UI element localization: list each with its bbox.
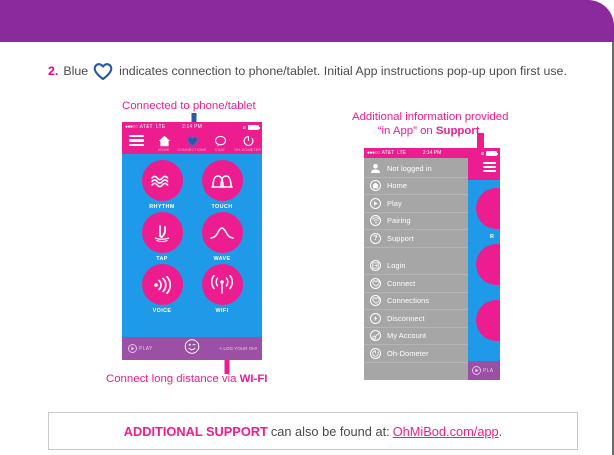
nav-item-chat[interactable]: CHAT (206, 134, 234, 152)
drawer-item-not-logged-in[interactable]: Not logged in (364, 160, 468, 178)
play-icon (370, 198, 381, 209)
mode-label-touch: TOUCH (211, 204, 232, 210)
key-icon (370, 330, 381, 341)
home-icon[interactable] (158, 134, 171, 147)
drawer-label-login: Login (387, 261, 406, 270)
nav-item-home[interactable]: HOME (150, 134, 178, 152)
mode-cell-tap[interactable]: TAP (132, 212, 192, 262)
drawer-item-login[interactable]: Login (364, 258, 468, 276)
drawer-item-my-account[interactable]: My Account (364, 328, 468, 346)
mode-label-wifi: WIFI (216, 308, 229, 314)
drawer-label-play: Play (387, 199, 402, 208)
wink-smiley-icon[interactable] (185, 339, 200, 359)
nav-item-connections[interactable]: CONNECTIONS (178, 134, 206, 152)
status-time: 2:14 PM (364, 150, 500, 156)
annotation-wifi-text: Connect long distance via (106, 373, 240, 385)
intro-before-heart: Blue (63, 64, 88, 78)
drawer-label-support: Support (387, 234, 414, 243)
mode-label-rhythm: RHYTHM (149, 204, 174, 210)
voice-waves-icon[interactable] (142, 264, 183, 305)
play-label-peek: PLA (483, 368, 493, 374)
right-phone-app-peek: R PLA (468, 158, 500, 380)
nav-label-home: HOME (158, 148, 170, 152)
drawer-label-connect: Connect (387, 279, 415, 288)
play-button[interactable]: PLAY (128, 340, 153, 358)
status-time: 2:14 PM (122, 124, 262, 130)
play-label: PLAY (139, 346, 153, 352)
right-phone-content: Not logged in Home Play Pairing (364, 158, 500, 380)
drawer-label-my-account: My Account (387, 331, 426, 340)
drawer-item-support[interactable]: ? Support (364, 230, 468, 248)
play-icon[interactable] (128, 340, 137, 358)
drawer-item-connect[interactable]: Connect (364, 275, 468, 293)
play-icon[interactable] (472, 362, 481, 380)
additional-support-bold: ADDITIONAL SUPPORT (124, 424, 268, 439)
oh-dometer-icon (370, 348, 381, 359)
annotation-connected: Connected to phone/tablet (122, 99, 256, 113)
annotation-support-line1: Additional information provided (352, 110, 508, 124)
oh-dometer-icon[interactable] (242, 134, 255, 147)
drawer-label-home: Home (387, 181, 407, 190)
drawer-item-home[interactable]: Home (364, 178, 468, 196)
mode-grid: RHYTHM TOUCH (122, 154, 262, 314)
drawer-label-pairing: Pairing (387, 216, 411, 225)
phone-mockup-left: ●●●○○ AT&T LTE 2:14 PM Ƀ HOME CONNECTION… (122, 122, 262, 360)
app-navbar-peek (468, 158, 500, 180)
touch-loops-icon[interactable] (202, 160, 243, 201)
mode-cell-wave[interactable]: WAVE (192, 212, 252, 262)
log-your-oh-label[interactable]: < LOG YOUR OH! (219, 346, 257, 351)
rhythm-wave-icon[interactable] (142, 160, 183, 201)
home-icon (370, 180, 381, 191)
mode-label-wave: WAVE (213, 256, 230, 262)
drawer-separator (364, 248, 468, 258)
wifi-icon (370, 215, 381, 226)
bolt-icon (370, 313, 381, 324)
nav-item-menu[interactable] (122, 134, 150, 148)
heart-icon (370, 278, 381, 289)
heart-icon (92, 61, 114, 81)
hamburger-menu-icon[interactable] (483, 162, 496, 180)
intro-after-heart: indicates connection to phone/tablet. In… (119, 64, 567, 78)
app-bottom-bar-peek: PLA (468, 361, 500, 380)
mode-circle-peek-3[interactable] (476, 300, 500, 341)
heart-icon (370, 295, 381, 306)
ohmibod-app-link[interactable]: OhMiBod.com/app (393, 424, 499, 439)
phone-mockup-right: ●●●○○ AT&T LTE 2:14 PM Ƀ Not logged in (364, 148, 500, 380)
drawer-item-pairing[interactable]: Pairing (364, 213, 468, 231)
mode-cell-rhythm[interactable]: RHYTHM (132, 160, 192, 210)
header-purple-band (0, 0, 614, 42)
step-number: 2. (48, 64, 58, 78)
app-bottom-bar: PLAY < LOG YOUR OH! (122, 337, 262, 360)
status-bar-right-inner: ●●●○○ AT&T LTE 2:14 PM Ƀ (364, 148, 500, 158)
additional-support-middle: can also be found at: (271, 424, 390, 439)
side-drawer-menu: Not logged in Home Play Pairing (364, 158, 468, 380)
mode-cell-wifi[interactable]: WIFI (192, 264, 252, 314)
mode-label-peek: R (490, 234, 494, 240)
mode-label-voice: VOICE (153, 308, 172, 314)
mode-cell-voice[interactable]: VOICE (132, 264, 192, 314)
status-bar-right: ●●●○○ AT&T LTE 2:14 PM Ƀ (364, 148, 500, 158)
battery-icon (248, 125, 259, 130)
nav-label-connections: CONNECTIONS (177, 148, 206, 152)
mode-circle-peek-2[interactable] (476, 244, 500, 285)
drawer-label-oh-dometer: Oh-Dometer (387, 349, 429, 358)
status-bar-left: ●●●○○ AT&T LTE 2:14 PM Ƀ (122, 122, 262, 132)
drawer-label-not-logged-in: Not logged in (387, 164, 432, 173)
drawer-item-play[interactable]: Play (364, 195, 468, 213)
chat-bubble-icon[interactable] (214, 134, 227, 147)
wave-peak-icon[interactable] (202, 212, 243, 253)
app-navbar: HOME CONNECTIONS CHAT OH-DOMETER (122, 132, 262, 154)
intro-line: 2. Blue indicates connection to phone/ta… (48, 60, 593, 82)
user-icon (370, 163, 381, 174)
additional-support-period: . (499, 424, 503, 439)
nav-label-oh-dometer: OH-DOMETER (235, 148, 262, 152)
app-mode-grid-area: RHYTHM TOUCH (122, 154, 262, 337)
wifi-icon[interactable] (202, 264, 243, 305)
drawer-item-disconnect[interactable]: Disconnect (364, 310, 468, 328)
tap-icon[interactable] (142, 212, 183, 253)
drawer-item-oh-dometer[interactable]: Oh-Dometer (364, 345, 468, 363)
drawer-label-disconnect: Disconnect (387, 314, 425, 323)
mode-cell-touch[interactable]: TOUCH (192, 160, 252, 210)
hamburger-menu-icon[interactable] (129, 134, 144, 147)
additional-support-box: ADDITIONAL SUPPORT can also be found at:… (48, 412, 578, 450)
annotation-wifi-bold: WI-FI (240, 373, 268, 385)
nav-item-oh-dometer[interactable]: OH-DOMETER (234, 134, 262, 152)
drawer-item-connections[interactable]: Connections (364, 293, 468, 311)
mode-label-tap: TAP (156, 256, 168, 262)
nav-label-chat: CHAT (215, 148, 225, 152)
drawer-label-connections: Connections (387, 296, 429, 305)
question-mark-icon: ? (370, 233, 381, 244)
login-icon (370, 260, 381, 271)
annotation-wifi: Connect long distance via WI-FI (106, 372, 267, 386)
mode-circle-peek-1[interactable] (476, 188, 500, 229)
battery-icon (486, 151, 497, 156)
heart-icon[interactable] (186, 134, 199, 147)
